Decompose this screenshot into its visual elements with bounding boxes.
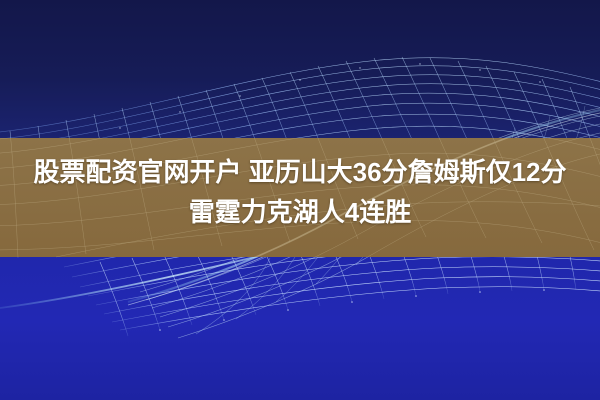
background-bottom-gradient — [0, 256, 600, 400]
background-top-gradient — [0, 0, 600, 140]
banner-image: 股票配资官网开户 亚历山大36分詹姆斯仅12分 雷霆力克湖人4连胜 — [0, 0, 600, 400]
headline-line-1: 股票配资官网开户 亚历山大36分詹姆斯仅12分 — [0, 152, 600, 192]
headline-line-2: 雷霆力克湖人4连胜 — [0, 192, 600, 232]
headline-text: 股票配资官网开户 亚历山大36分詹姆斯仅12分 雷霆力克湖人4连胜 — [0, 152, 600, 232]
